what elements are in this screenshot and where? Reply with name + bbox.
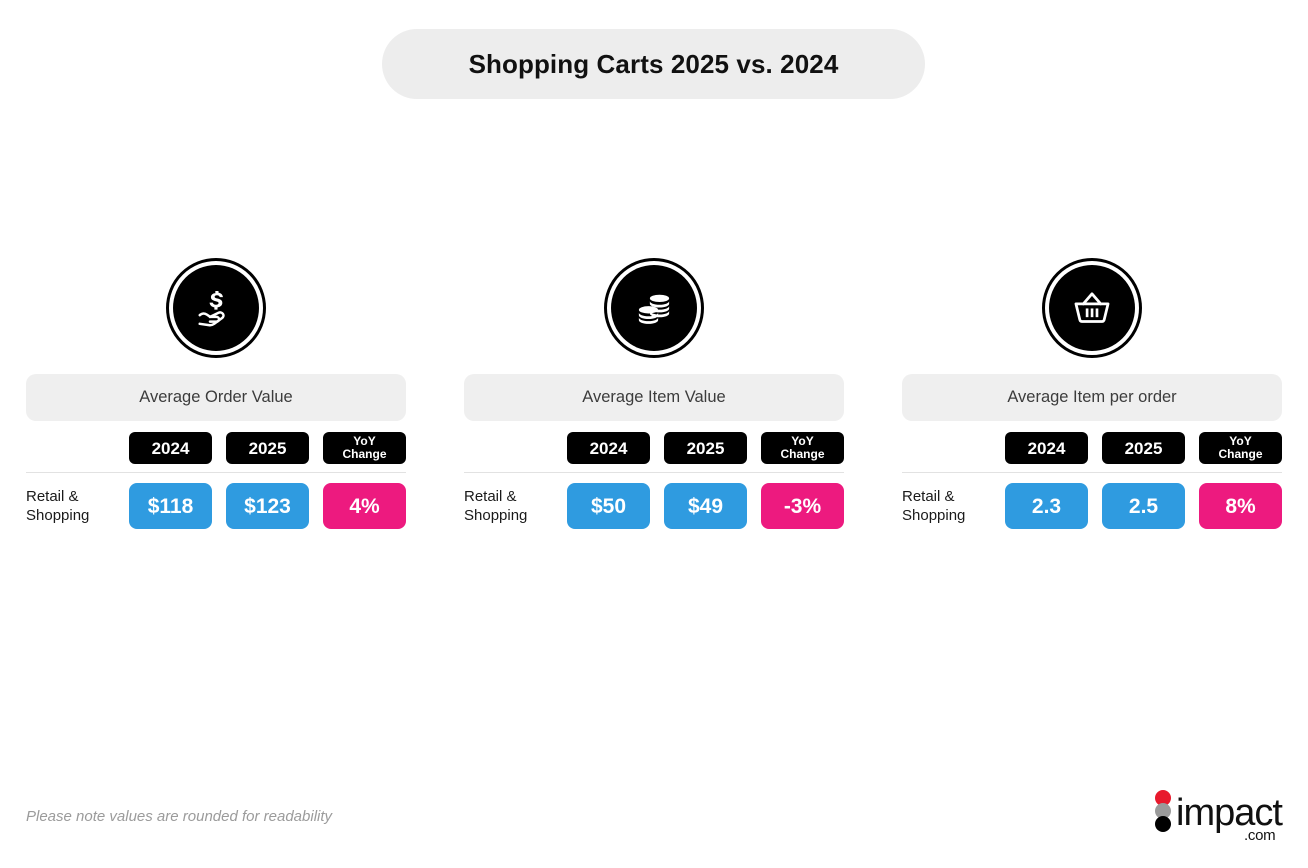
metric-panel-average-item-per-order: Average Item per order 2024 2025 YoY Cha… (892, 258, 1292, 529)
column-header-2025: 2025 (664, 432, 747, 464)
value-cell-yoy: 8% (1199, 483, 1282, 529)
metric-panel-average-item-value: Average Item Value 2024 2025 YoY Change … (454, 258, 854, 529)
hand-holding-dollar-icon (173, 265, 259, 351)
metric-title: Average Item per order (1007, 388, 1176, 407)
icon-ring (604, 258, 704, 358)
column-header-yoy-change: YoY Change (323, 432, 406, 464)
page-title: Shopping Carts 2025 vs. 2024 (469, 49, 839, 80)
icon-ring (1042, 258, 1142, 358)
column-header-2024: 2024 (1005, 432, 1088, 464)
row-divider (26, 472, 406, 473)
value-cell-yoy: 4% (323, 483, 406, 529)
table-row: Retail & Shopping $118 $123 4% (16, 483, 416, 529)
panel-icon-wrap (892, 258, 1292, 374)
shopping-basket-icon (1049, 265, 1135, 351)
column-header-row: 2024 2025 YoY Change (16, 432, 416, 464)
row-divider (902, 472, 1282, 473)
column-header-row: 2024 2025 YoY Change (892, 432, 1292, 464)
metric-panel-average-order-value: Average Order Value 2024 2025 YoY Change… (16, 258, 416, 529)
panel-icon-wrap (16, 258, 416, 374)
row-label: Retail & Shopping (26, 487, 89, 525)
value-cell-2024: $118 (129, 483, 212, 529)
coin-stack-icon (611, 265, 697, 351)
impact-com-logo: impact .com (1152, 788, 1292, 844)
row-label: Retail & Shopping (464, 487, 527, 525)
panel-icon-wrap (454, 258, 854, 374)
row-divider (464, 472, 844, 473)
value-cell-2024: $50 (567, 483, 650, 529)
column-header-2024: 2024 (567, 432, 650, 464)
logo-dots-icon (1152, 790, 1174, 838)
column-header-2024: 2024 (129, 432, 212, 464)
value-cell-2025: 2.5 (1102, 483, 1185, 529)
column-header-yoy-change: YoY Change (761, 432, 844, 464)
metric-title: Average Order Value (139, 388, 292, 407)
value-cell-2025: $123 (226, 483, 309, 529)
table-row: Retail & Shopping $50 $49 -3% (454, 483, 854, 529)
icon-ring (166, 258, 266, 358)
column-header-2025: 2025 (1102, 432, 1185, 464)
column-header-yoy-change: YoY Change (1199, 432, 1282, 464)
logo-tld: .com (1244, 828, 1275, 843)
column-header-2025: 2025 (226, 432, 309, 464)
table-row: Retail & Shopping 2.3 2.5 8% (892, 483, 1292, 529)
footnote: Please note values are rounded for reada… (26, 808, 332, 825)
value-cell-yoy: -3% (761, 483, 844, 529)
logo-dot-black (1155, 816, 1171, 832)
metric-header: Average Item Value (464, 374, 844, 421)
metric-title: Average Item Value (582, 388, 725, 407)
value-cell-2024: 2.3 (1005, 483, 1088, 529)
metric-header: Average Order Value (26, 374, 406, 421)
page-title-bar: Shopping Carts 2025 vs. 2024 (382, 29, 925, 99)
metric-header: Average Item per order (902, 374, 1282, 421)
column-header-row: 2024 2025 YoY Change (454, 432, 854, 464)
row-label: Retail & Shopping (902, 487, 965, 525)
value-cell-2025: $49 (664, 483, 747, 529)
